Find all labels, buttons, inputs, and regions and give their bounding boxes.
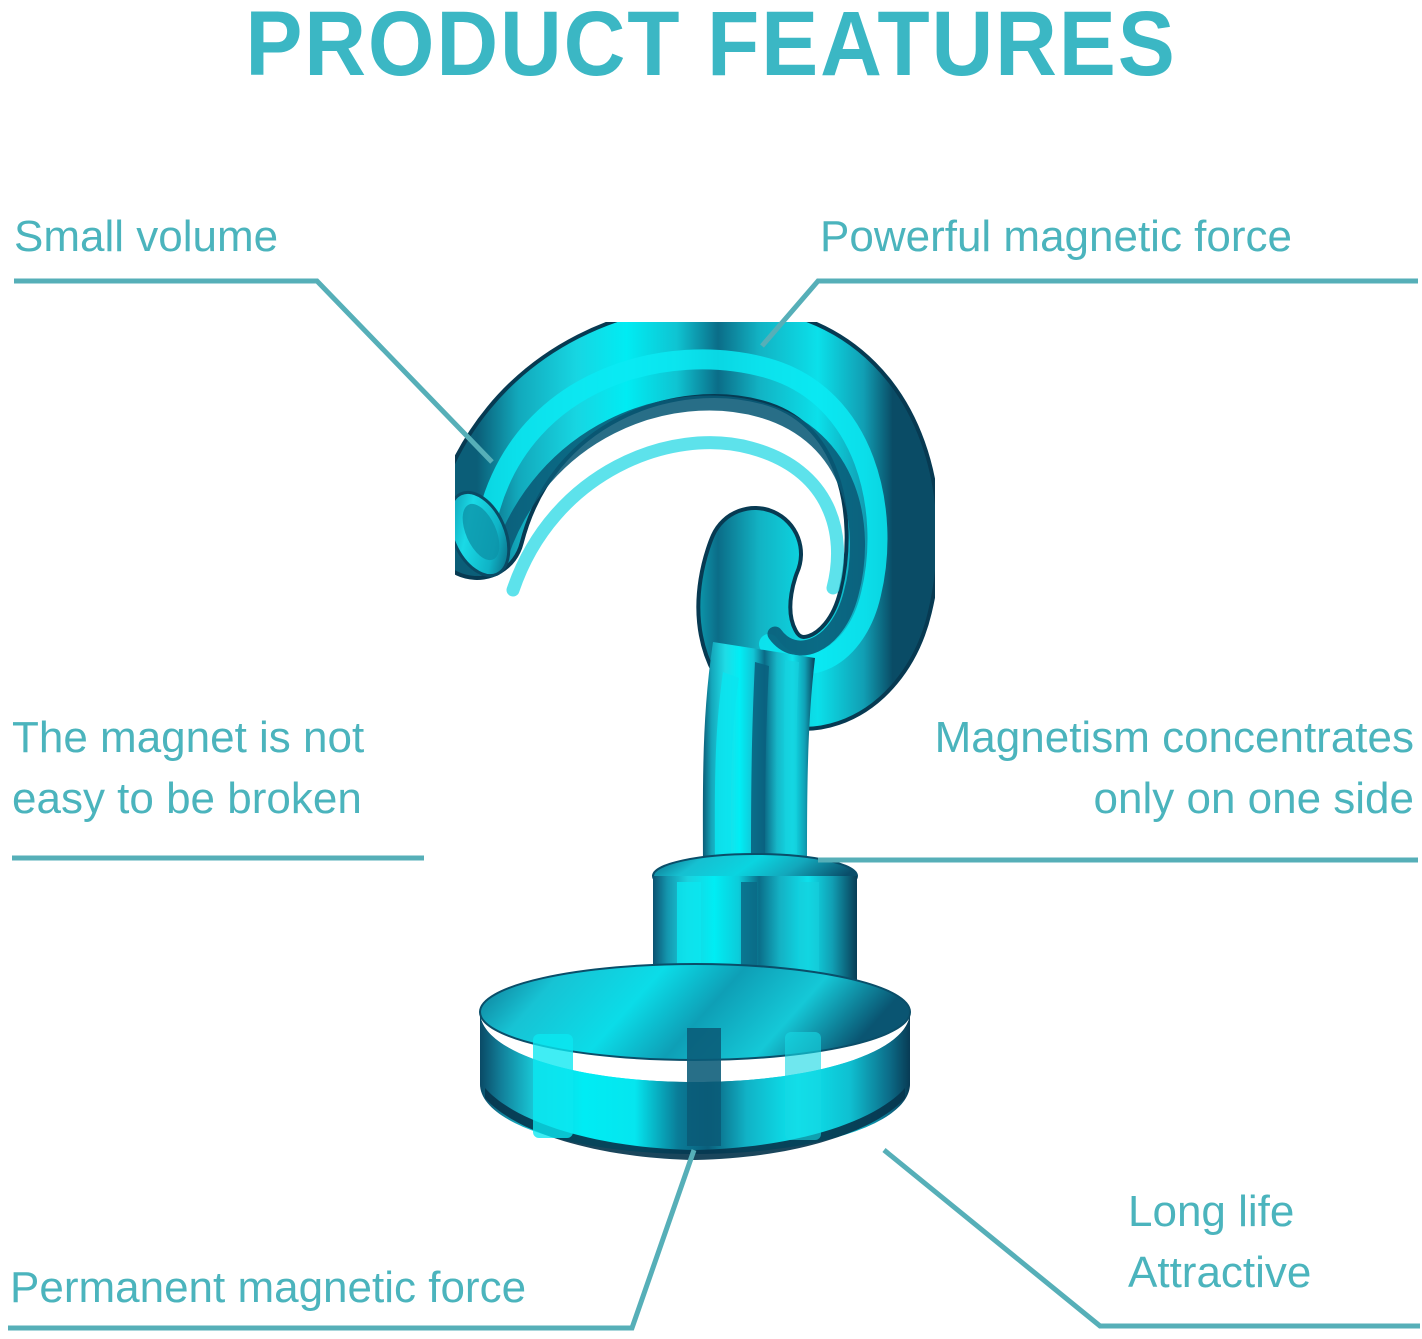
page-title: PRODUCT FEATURES bbox=[50, 0, 1372, 93]
feature-label-powerful-magnetic-force: Powerful magnetic force bbox=[820, 207, 1292, 268]
feature-label-small-volume: Small volume bbox=[14, 207, 278, 268]
feature-text-line: Attractive bbox=[1128, 1243, 1311, 1304]
feature-label-permanent-magnetic-force: Permanent magnetic force bbox=[10, 1258, 526, 1319]
hook-shank bbox=[703, 642, 815, 882]
feature-text-line: Small volume bbox=[14, 207, 278, 268]
puck-highlight-right bbox=[785, 1032, 821, 1140]
feature-text-line: The magnet is not bbox=[12, 708, 364, 769]
feature-text-line: Powerful magnetic force bbox=[820, 207, 1292, 268]
magnet-puck bbox=[480, 964, 910, 1160]
magnetic-hook-image bbox=[455, 322, 935, 1182]
puck-highlight-left bbox=[533, 1034, 573, 1138]
puck-groove-center bbox=[687, 1028, 721, 1146]
feature-label-long-life-attractive: Long life Attractive bbox=[1128, 1182, 1311, 1303]
leader-small-volume bbox=[14, 281, 492, 462]
feature-label-magnet-not-easy-broken: The magnet is not easy to be broken bbox=[12, 708, 364, 829]
feature-label-magnetism-one-side: Magnetism concentrates only on one side bbox=[935, 708, 1414, 829]
hook-curve bbox=[477, 350, 893, 683]
magnetic-hook-svg bbox=[455, 322, 935, 1182]
feature-text-line: Long life bbox=[1128, 1182, 1311, 1243]
feature-text-line: easy to be broken bbox=[12, 769, 364, 830]
product-features-infographic: PRODUCT FEATURES bbox=[0, 0, 1422, 1339]
feature-text-line: Permanent magnetic force bbox=[10, 1258, 526, 1319]
feature-text-line: only on one side bbox=[935, 769, 1414, 830]
feature-text-line: Magnetism concentrates bbox=[935, 708, 1414, 769]
